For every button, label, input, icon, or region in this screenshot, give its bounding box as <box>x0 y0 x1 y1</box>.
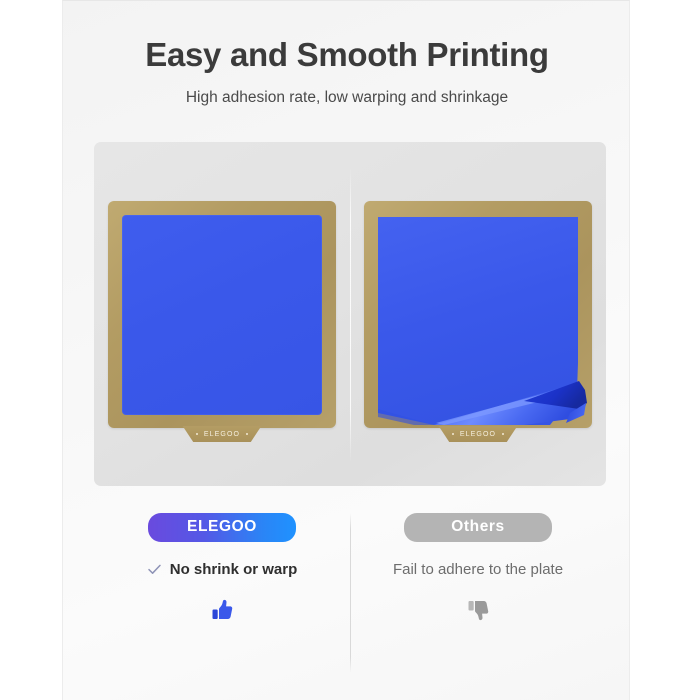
thumbs-down-icon <box>464 596 492 624</box>
brand-pill-elegoo: ELEGOO <box>148 513 296 542</box>
verdict-text-others: Fail to adhere to the plate <box>393 561 563 578</box>
printed-part-flat <box>122 215 322 415</box>
thumbs-up-icon <box>208 596 236 624</box>
page-subtitle: High adhesion rate, low warping and shri… <box>63 89 631 107</box>
verdict-row: ELEGOO No shrink or warp <box>94 513 606 673</box>
verdict-statement-others: Fail to adhere to the plate <box>350 561 606 578</box>
plate-tab-label: ELEGOO <box>460 431 496 438</box>
plate-tab-dot-right <box>502 433 504 435</box>
build-plate-elegoo: ELEGOO <box>108 201 336 428</box>
verdict-text-elegoo: No shrink or warp <box>170 561 298 578</box>
comparison-panel: ELEGOO <box>94 142 606 486</box>
plate-tab-dot-left <box>196 433 198 435</box>
page-title: Easy and Smooth Printing <box>63 35 631 75</box>
plate-cell-elegoo: ELEGOO <box>94 142 350 486</box>
page-root: Easy and Smooth Printing High adhesion r… <box>0 0 700 700</box>
thumbs-down-wrap <box>350 596 606 624</box>
plate-tab-dot-left <box>452 433 454 435</box>
thumbs-up-wrap <box>94 596 350 624</box>
check-icon <box>147 562 162 577</box>
plate-tab-label: ELEGOO <box>204 431 240 438</box>
header: Easy and Smooth Printing High adhesion r… <box>63 35 631 107</box>
build-plate-others: ELEGOO <box>364 201 592 428</box>
verdict-column-elegoo: ELEGOO No shrink or warp <box>94 513 350 673</box>
plate-surface <box>122 215 322 415</box>
verdict-statement-elegoo: No shrink or warp <box>94 561 350 578</box>
plate-brand-tab: ELEGOO <box>430 426 526 442</box>
content-card: Easy and Smooth Printing High adhesion r… <box>62 0 630 700</box>
verdict-column-others: Others Fail to adhere to the plate <box>350 513 606 673</box>
plate-tab-dot-right <box>246 433 248 435</box>
plate-brand-tab: ELEGOO <box>174 426 270 442</box>
plate-surface <box>378 215 578 415</box>
printed-part-warped <box>374 213 590 427</box>
brand-pill-others: Others <box>404 513 552 542</box>
plate-cell-others: ELEGOO <box>350 142 606 486</box>
